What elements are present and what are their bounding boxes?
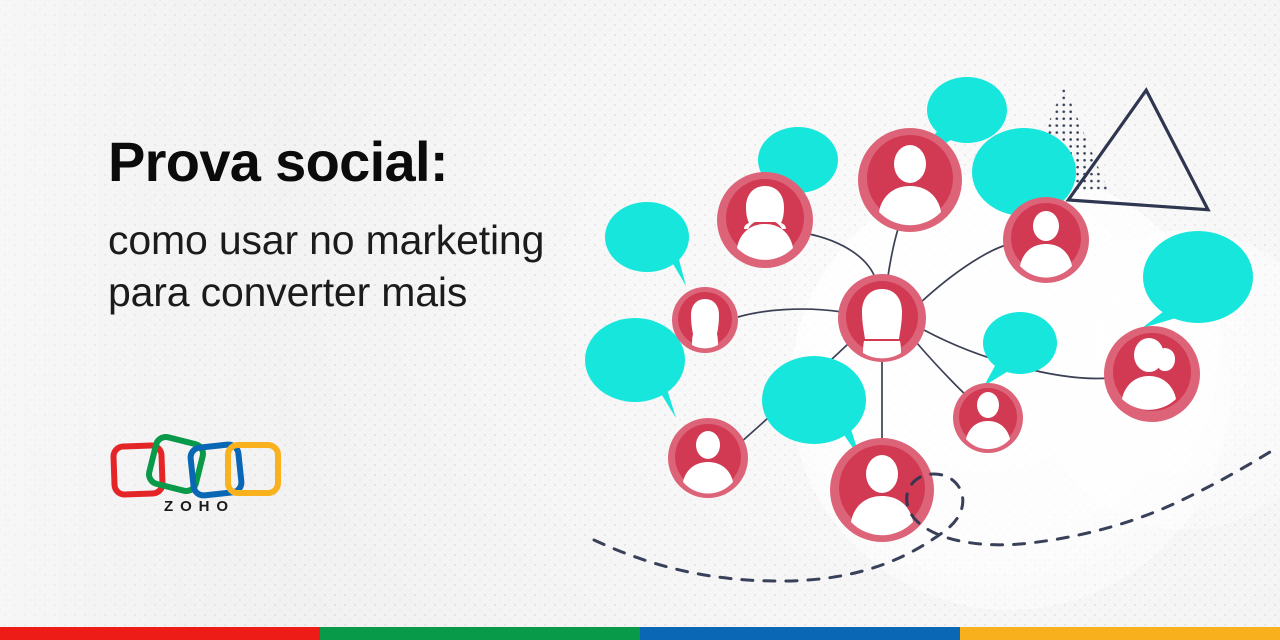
node-left-small-woman [672,287,738,353]
background-left-fade [0,0,300,640]
page-subtitle: como usar no marketing para converter ma… [108,215,648,318]
bottom-color-bar [0,627,1280,640]
speech-bubble-mid-right [983,312,1057,386]
avatar-icon-woman-long-hair [691,299,719,348]
speech-bubble-left [605,202,689,286]
headline-block: Prova social: como usar no marketing par… [108,132,648,319]
edge-center-to-upper-left [798,232,876,280]
edge-center-to-left-small [738,309,842,317]
color-bar-green-segment [320,627,640,640]
color-bar-blue-segment [640,627,960,640]
zoho-wordmark: ZOHO [164,498,235,515]
node-center-woman [838,274,926,362]
node-bottom-left-man [668,418,748,498]
color-bar-orange-segment [960,627,1280,640]
node-top-man [858,128,962,232]
social-network-illustration [580,60,1280,605]
node-upper-left-woman [717,172,813,268]
node-right-man [1003,197,1089,283]
color-bar-red-segment [0,627,320,640]
node-far-right-girl [1104,326,1200,422]
node-lower-right-small [953,383,1023,453]
zoho-logo[interactable]: ZOHO [108,432,288,528]
node-bottom-man [830,438,934,542]
speech-bubble-lower-left [585,318,685,418]
edge-center-to-right [920,244,1010,303]
speech-bubble-bottom-center [762,356,866,458]
speech-bubble-far-right [1142,231,1253,328]
avatar-icon-woman-long-hair [862,289,902,358]
banner-root: Prova social: como usar no marketing par… [0,0,1280,640]
page-title: Prova social: [108,132,648,191]
